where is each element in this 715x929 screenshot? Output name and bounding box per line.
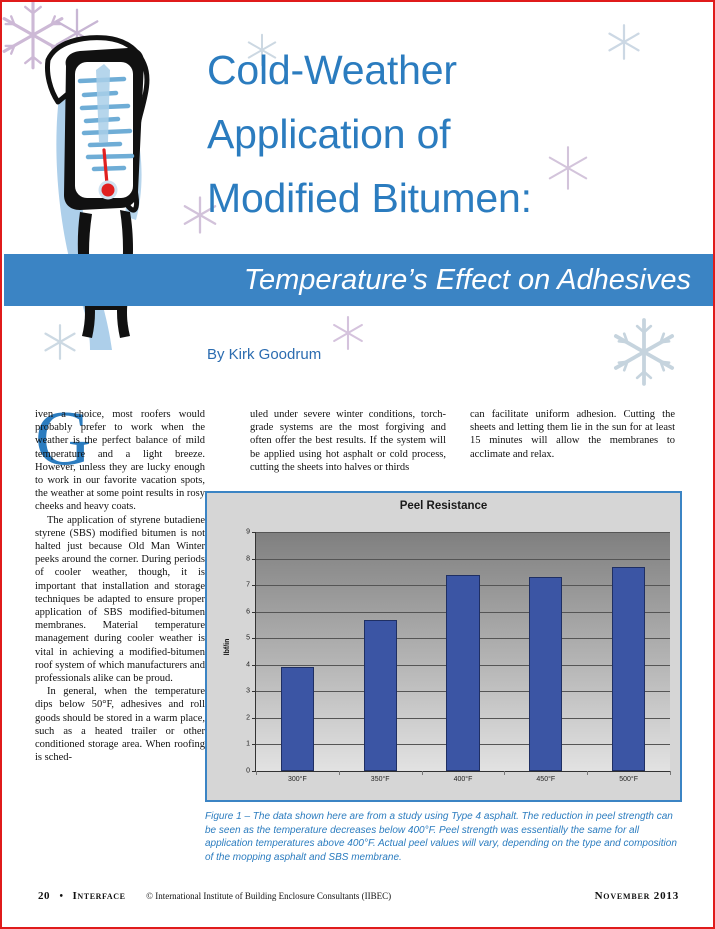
footer-magazine-name: Interface [73,890,126,902]
paragraph: iven a choice, most roofers would probab… [35,408,205,514]
page-footer: 20 • Interface © International Institute… [2,890,713,914]
chart-y-tick-label: 8 [246,555,250,562]
footer-copyright: © International Institute of Building En… [146,891,391,901]
chart-y-tick-mark [252,691,256,692]
chart-y-tick-label: 6 [246,608,250,615]
chart-y-tick-mark [252,559,256,560]
chart-x-tick-mark [256,771,257,775]
chart-y-tick-mark [252,718,256,719]
chart-y-tick-mark [252,532,256,533]
subtitle-banner: Temperature’s Effect on Adhesives [4,254,715,306]
chart-y-tick-label: 3 [246,688,250,695]
figure-caption: Figure 1 – The data shown here are from … [205,810,682,864]
chart-y-tick-label: 4 [246,661,250,668]
chart-bar [364,620,397,771]
chart-y-tick-label: 1 [246,741,250,748]
chart-x-tick-mark [587,771,588,775]
chart-x-tick-mark [670,771,671,775]
title-line-1: Cold-Weather [207,38,697,102]
chart-y-tick-mark [252,638,256,639]
footer-left: 20 • Interface © International Institute… [38,890,391,902]
paragraph: uled under severe winter conditions, tor… [250,408,446,474]
title-line-3: Modified Bitumen: [207,166,697,230]
chart-x-tick-mark [339,771,340,775]
chart-y-tick-label: 5 [246,635,250,642]
subtitle-text: Temperature’s Effect on Adhesives [244,264,691,297]
chart-bar [612,567,645,771]
paragraph: can facilitate uniform adhesion. Cutting… [470,408,675,461]
body-column-1: iven a choice, most roofers would probab… [35,408,205,764]
chart-x-tick-mark [504,771,505,775]
chart-y-tick-label: 9 [246,529,250,536]
snowflake-icon [327,312,369,354]
chart-y-tick-mark [252,612,256,613]
chart-y-tick-mark [252,585,256,586]
chart-y-tick-mark [252,744,256,745]
paragraph: The application of styrene butadiene sty… [35,514,205,686]
body-column-2: uled under severe winter conditions, tor… [250,408,446,474]
chart-y-axis-label: lbf/in [224,638,231,655]
title-line-2: Application of [207,102,697,166]
chart-x-tick-label: 350°F [371,776,390,783]
footer-issue-date: November 2013 [595,890,679,902]
byline: By Kirk Goodrum [207,346,321,363]
body-column-3: can facilitate uniform adhesion. Cutting… [470,408,675,461]
chart-bar [529,577,562,771]
chart-gridline [256,559,670,560]
chart-y-tick-label: 0 [246,768,250,775]
snowflake-icon [606,314,682,390]
chart-bar [446,575,479,772]
chart-gridline [256,532,670,533]
chart-y-tick-mark [252,665,256,666]
footer-page-number: 20 [38,890,50,902]
chart-x-tick-label: 450°F [536,776,555,783]
chart-x-tick-label: 500°F [619,776,638,783]
chart-x-tick-label: 300°F [288,776,307,783]
magazine-page: Cold-Weather Application of Modified Bit… [0,0,715,929]
footer-separator: • [60,891,64,902]
chart-y-tick-label: 7 [246,582,250,589]
figure-chart: Peel Resistance lbf/in 0123456789300°F35… [205,491,682,802]
chart-bar [281,667,314,771]
chart-title: Peel Resistance [207,500,680,512]
chart-y-tick-label: 2 [246,714,250,721]
chart-x-tick-label: 400°F [454,776,473,783]
paragraph: In general, when the temperature dips be… [35,685,205,764]
page-title: Cold-Weather Application of Modified Bit… [207,38,697,230]
chart-plot-area: 0123456789300°F350°F400°F450°F500°F [255,532,670,772]
chart-x-tick-mark [422,771,423,775]
